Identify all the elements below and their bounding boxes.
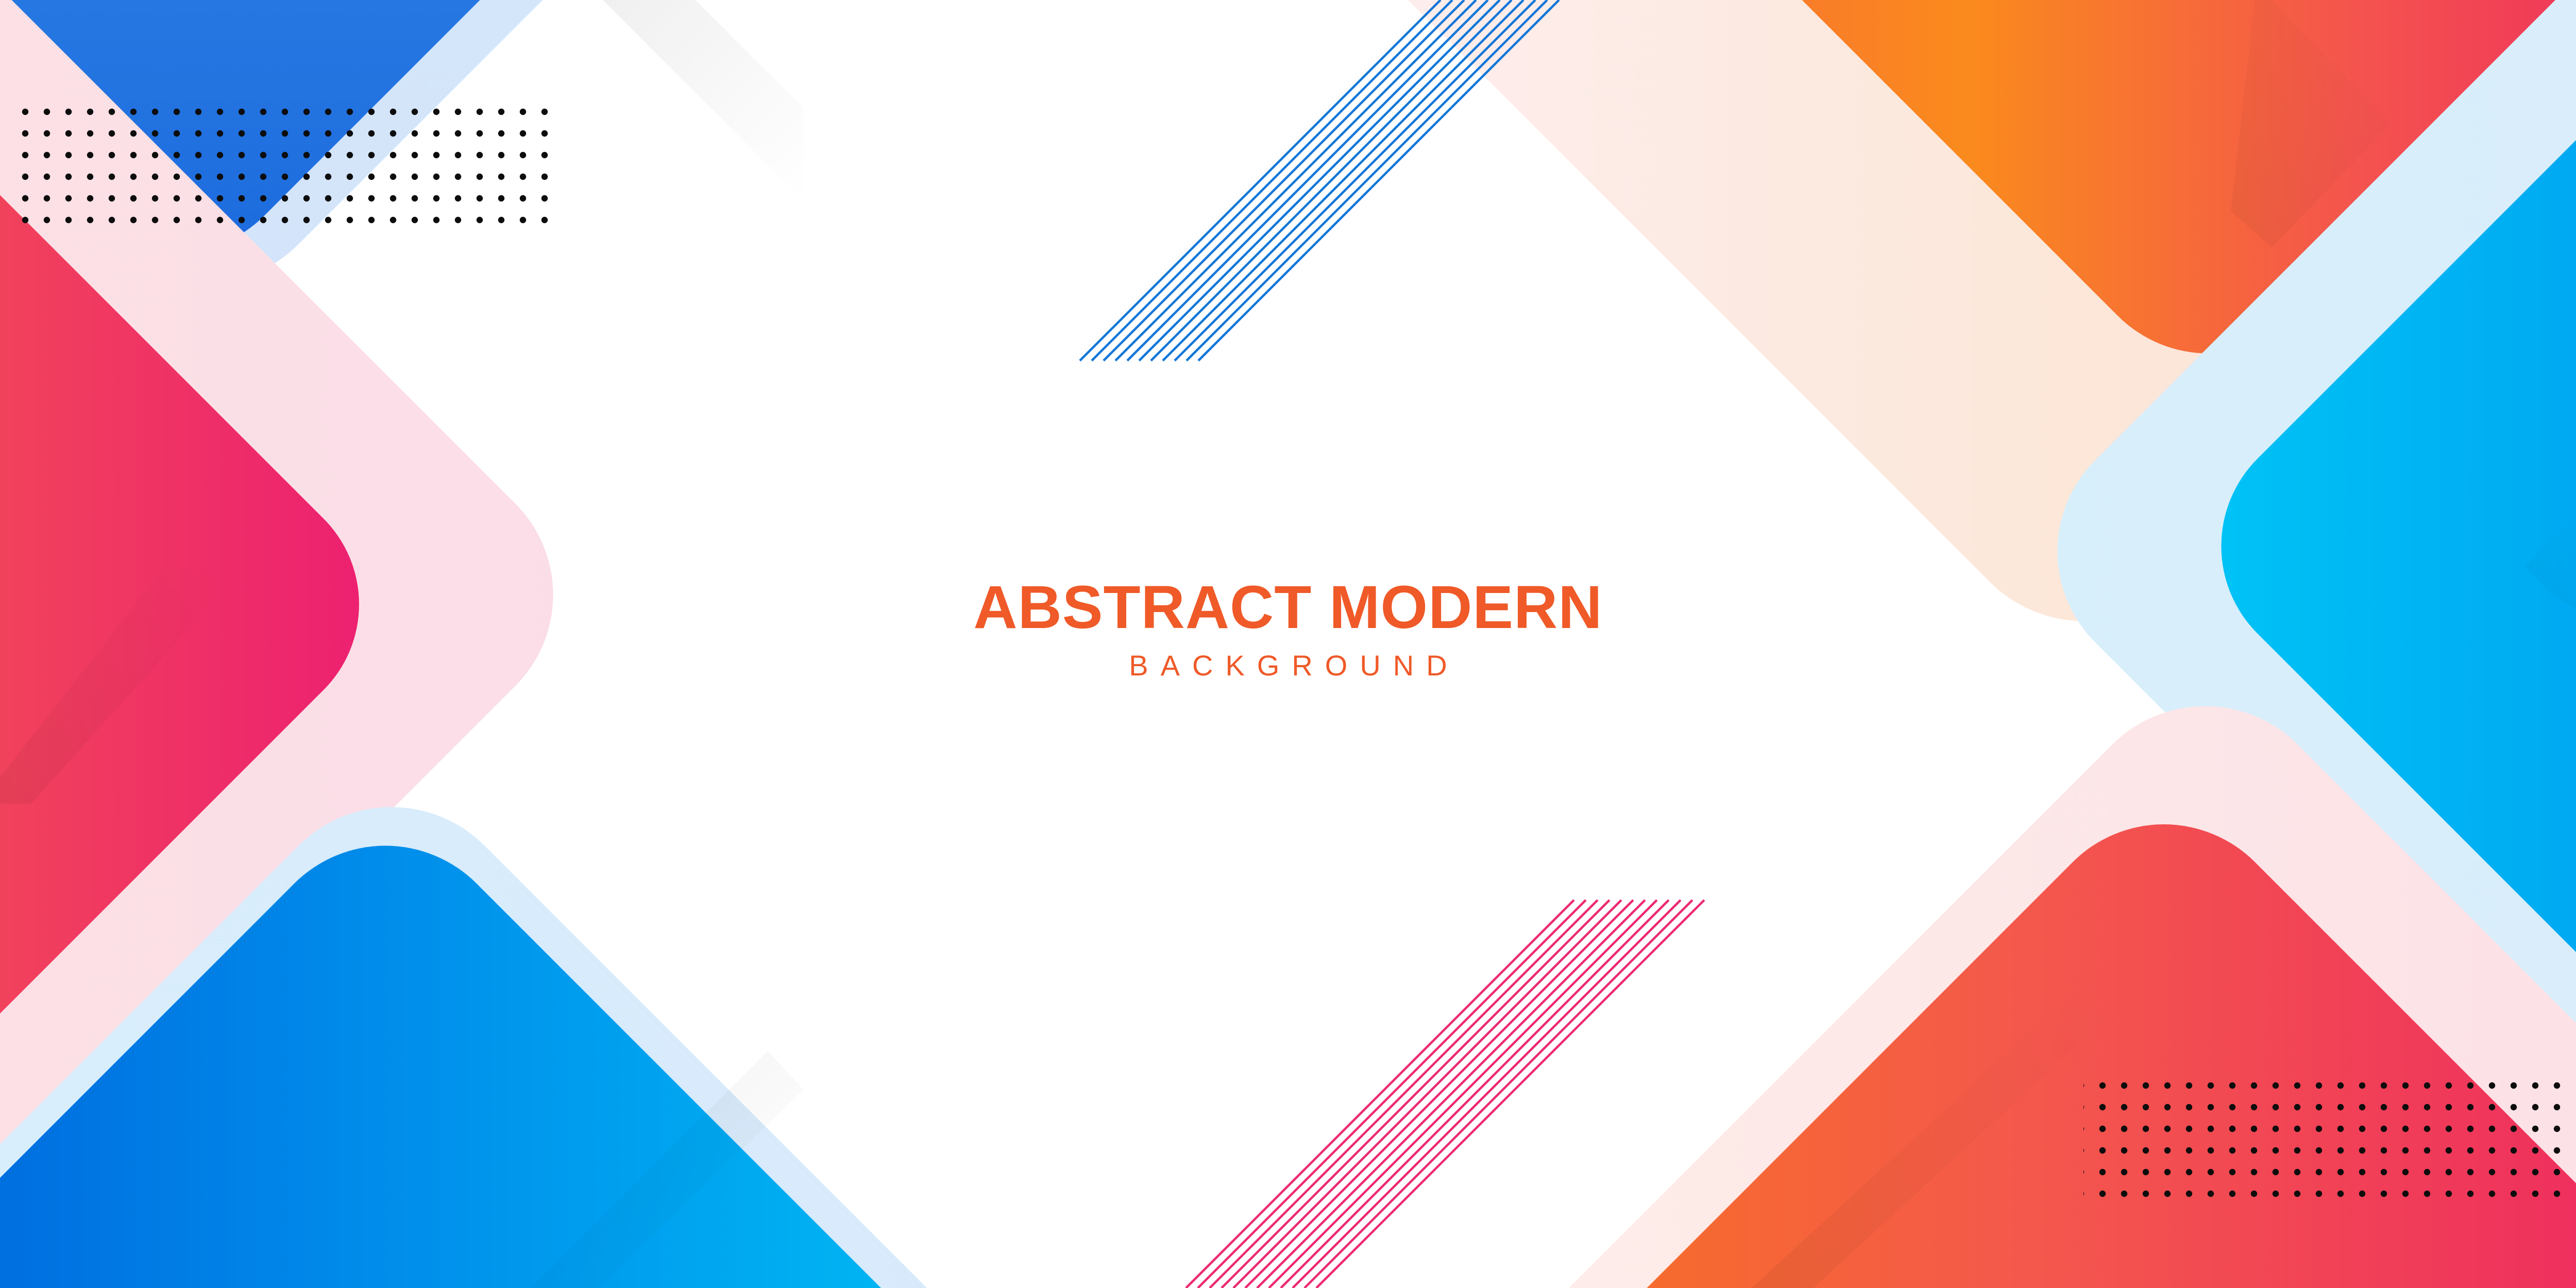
background-canvas: ABSTRACT MODERN BACKGROUND — [0, 0, 2576, 1288]
dot-grid-bottom-right — [2083, 1075, 2569, 1207]
dot-grid-top-left — [12, 97, 558, 229]
abstract-shapes-artwork — [0, 0, 2576, 1288]
